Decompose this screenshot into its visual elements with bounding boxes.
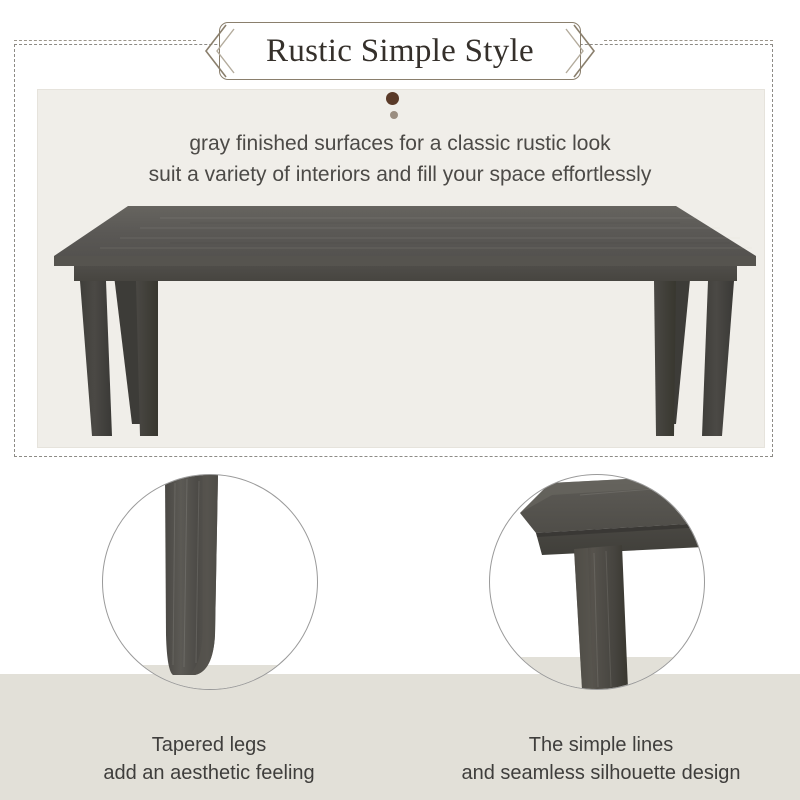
detail-caption-left: Tapered legs add an aesthetic feeling [49,731,369,787]
page-title: Rustic Simple Style [219,22,581,80]
infographic-canvas: Rustic Simple Style gray finished surfac… [0,0,800,800]
ornament-dot-large [386,92,399,105]
detail-circle-tapered-leg [102,474,318,690]
main-product-image [40,196,760,448]
detail-caption-left-line-1: Tapered legs [49,731,369,759]
hero-subtitle-line-1: gray finished surfaces for a classic rus… [0,128,800,159]
detail-caption-right-line-2: and seamless silhouette design [441,759,761,787]
hero-subtitle-line-2: suit a variety of interiors and fill you… [0,159,800,190]
ornament-dot-small [390,111,398,119]
detail-caption-left-line-2: add an aesthetic feeling [49,759,369,787]
detail-circle-corner-joint [489,474,705,690]
detail-caption-right: The simple lines and seamless silhouette… [441,731,761,787]
hero-subtitle: gray finished surfaces for a classic rus… [0,128,800,190]
title-block: Rustic Simple Style [0,10,800,80]
detail-caption-right-line-1: The simple lines [441,731,761,759]
